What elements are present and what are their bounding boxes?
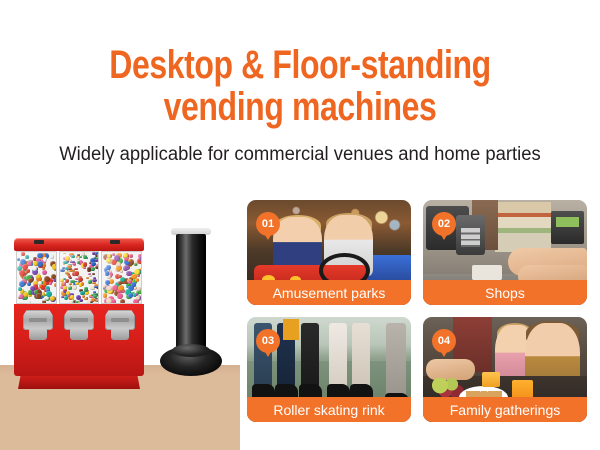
candy-piece xyxy=(118,285,124,291)
candy-compartment xyxy=(59,251,100,304)
cash-register xyxy=(551,211,584,245)
dispenser-tray xyxy=(70,329,88,340)
candy-piece xyxy=(116,262,121,267)
candy-piece xyxy=(42,270,47,275)
candy-piece xyxy=(86,277,89,279)
machine-base xyxy=(18,376,140,389)
machine-body xyxy=(14,304,144,376)
candy-piece xyxy=(72,285,77,290)
candy-piece xyxy=(106,298,112,304)
floor-stand-pole xyxy=(160,228,222,390)
candy-piece xyxy=(74,271,78,275)
candy-piece xyxy=(96,299,99,302)
candy-piece xyxy=(129,254,133,258)
candy-piece xyxy=(136,295,140,299)
candy-piece xyxy=(65,272,68,274)
candy-piece xyxy=(44,276,50,282)
candy-piece xyxy=(42,298,45,301)
candy-piece xyxy=(36,274,41,279)
candy-piece xyxy=(79,256,82,258)
candy-piece xyxy=(19,281,25,287)
headline-line-2: vending machines xyxy=(60,86,540,128)
candy-piece xyxy=(63,261,68,264)
candy-piece xyxy=(97,298,99,300)
candy-piece xyxy=(83,255,87,259)
candy-piece xyxy=(79,283,82,286)
page-title: Desktop & Floor-standing vending machine… xyxy=(0,44,600,128)
candy-piece xyxy=(93,295,97,297)
candy-piece xyxy=(83,262,87,266)
candy-piece xyxy=(105,271,109,275)
juice-jar xyxy=(482,372,500,388)
machine-lid xyxy=(14,238,144,251)
skater-leg xyxy=(386,323,406,399)
candy-piece xyxy=(128,293,133,298)
dispenser-tray xyxy=(111,329,129,340)
keypad-icon xyxy=(461,228,481,247)
use-case-card-family-gatherings[interactable]: 04 Family gatherings xyxy=(423,317,587,422)
candy-piece xyxy=(87,267,92,272)
candy-piece xyxy=(50,255,54,259)
candy-piece xyxy=(120,270,123,273)
card-number-badge: 02 xyxy=(432,212,456,236)
candy-piece xyxy=(120,299,125,304)
card-number-badge: 03 xyxy=(256,329,280,353)
candy-piece xyxy=(95,266,99,269)
coin-slot-icon xyxy=(111,318,129,322)
machine-candy-compartments xyxy=(16,251,142,304)
stand-base-highlight xyxy=(172,344,210,357)
store-shelf xyxy=(495,202,551,252)
skater-leg xyxy=(352,323,370,388)
candy-piece xyxy=(84,298,88,300)
card-number-badge: 01 xyxy=(256,212,280,236)
candy-piece xyxy=(88,273,91,275)
candy-piece xyxy=(97,254,99,256)
candy-piece xyxy=(106,286,112,292)
skater-jacket xyxy=(283,319,299,340)
card-label: Amusement parks xyxy=(247,280,411,305)
candy-piece xyxy=(18,287,22,291)
candy-piece xyxy=(64,296,68,300)
use-case-card-roller-skating-rink[interactable]: 03 Roller skating rink xyxy=(247,317,411,422)
page-subtitle: Widely applicable for commercial venues … xyxy=(9,143,591,167)
candy-piece xyxy=(74,268,78,271)
card-label: Roller skating rink xyxy=(247,397,411,422)
candy-piece xyxy=(49,282,53,286)
coin-slot-icon xyxy=(29,318,47,322)
candy-compartment xyxy=(101,251,142,304)
candy-piece xyxy=(54,283,57,287)
candy-piece xyxy=(117,293,123,299)
card-label: Shops xyxy=(423,280,587,305)
candy-piece xyxy=(43,257,47,261)
candy-piece xyxy=(26,269,30,273)
use-case-card-amusement-parks[interactable]: 01 Amusement parks xyxy=(247,200,411,305)
candy-piece xyxy=(36,293,41,298)
candy-piece xyxy=(89,275,92,277)
candy-piece xyxy=(92,273,95,275)
stand-column xyxy=(176,234,206,356)
skater-leg xyxy=(301,323,319,388)
product-banner: Desktop & Floor-standing vending machine… xyxy=(0,0,600,450)
candy-piece xyxy=(84,287,87,290)
candy-piece xyxy=(33,257,36,260)
candy-piece xyxy=(139,256,142,261)
candy-piece xyxy=(55,262,57,265)
dispenser-tray xyxy=(29,329,47,340)
candy-piece xyxy=(78,277,83,282)
register-screen xyxy=(556,217,579,228)
candy-vending-machine xyxy=(14,238,144,390)
headline-line-1: Desktop & Floor-standing xyxy=(60,44,540,86)
machine-dispenser xyxy=(64,310,94,338)
machine-dispenser xyxy=(105,310,135,338)
machine-lock-icon xyxy=(110,240,120,244)
candy-piece xyxy=(71,255,75,259)
candy-piece xyxy=(90,301,93,303)
candy-piece xyxy=(21,252,25,256)
candy-piece xyxy=(128,280,132,284)
card-number-badge: 04 xyxy=(432,329,456,353)
candy-piece xyxy=(135,278,139,282)
candy-piece xyxy=(63,282,66,285)
candy-piece xyxy=(91,262,95,266)
candy-piece xyxy=(25,255,29,259)
candy-piece xyxy=(28,278,33,283)
product-package xyxy=(472,265,502,280)
candy-piece xyxy=(106,265,111,270)
candy-compartment xyxy=(16,251,57,304)
use-case-card-shops[interactable]: 02 Shops xyxy=(423,200,587,305)
candy-piece xyxy=(46,291,52,297)
candy-piece xyxy=(37,261,43,267)
candy-piece xyxy=(30,260,33,263)
candy-piece xyxy=(63,264,66,266)
candy-piece xyxy=(109,279,114,284)
candy-piece xyxy=(105,280,110,285)
candy-piece xyxy=(63,253,66,255)
candy-piece xyxy=(70,280,75,283)
use-case-card-grid: 01 Amusement parks 02 Shops xyxy=(247,200,587,422)
candy-piece xyxy=(71,261,74,263)
machine-lock-icon xyxy=(34,240,44,244)
candy-piece xyxy=(51,274,56,279)
candy-piece xyxy=(83,267,86,269)
card-label: Family gatherings xyxy=(423,397,587,422)
product-scene xyxy=(0,186,240,450)
coin-slot-icon xyxy=(70,318,88,322)
skater-leg xyxy=(329,323,347,388)
machine-dispenser xyxy=(23,310,53,338)
adult-arm xyxy=(426,359,475,380)
